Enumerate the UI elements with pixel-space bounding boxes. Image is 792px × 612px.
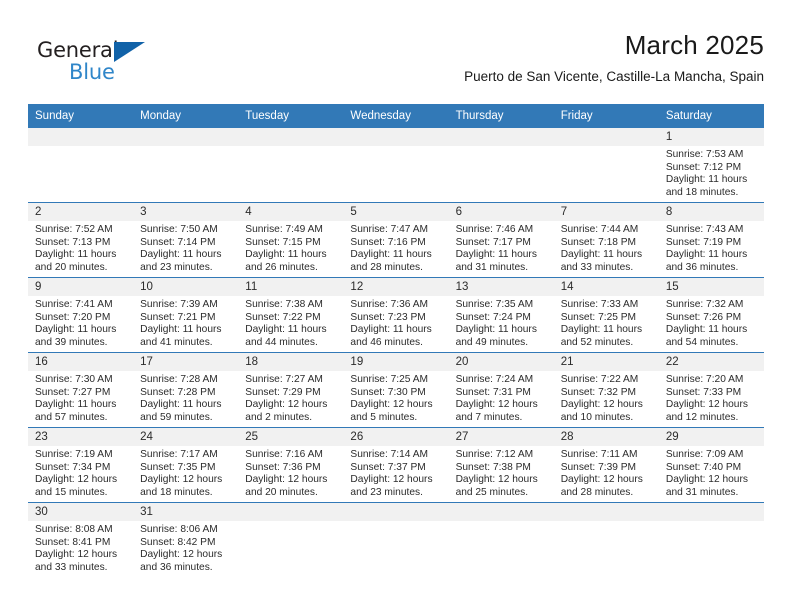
sunrise-text: Sunrise: 7:44 AM — [561, 224, 655, 237]
daylight-text-line1: Daylight: 11 hours — [561, 324, 655, 337]
daylight-text-line1: Daylight: 11 hours — [245, 324, 339, 337]
day-details: Sunrise: 7:09 AMSunset: 7:40 PMDaylight:… — [659, 446, 764, 499]
calendar-day-cell[interactable]: 14Sunrise: 7:33 AMSunset: 7:25 PMDayligh… — [554, 278, 659, 353]
sunrise-text: Sunrise: 7:17 AM — [140, 449, 234, 462]
daylight-text-line1: Daylight: 11 hours — [35, 324, 129, 337]
day-details: Sunrise: 7:20 AMSunset: 7:33 PMDaylight:… — [659, 371, 764, 424]
sunset-text: Sunset: 7:29 PM — [245, 387, 339, 400]
day-number: 20 — [449, 353, 554, 371]
sunset-text: Sunset: 7:36 PM — [245, 462, 339, 475]
daylight-text-line1: Daylight: 11 hours — [350, 249, 444, 262]
calendar-day-cell[interactable]: 22Sunrise: 7:20 AMSunset: 7:33 PMDayligh… — [659, 353, 764, 428]
day-details: Sunrise: 7:30 AMSunset: 7:27 PMDaylight:… — [28, 371, 133, 424]
day-details: Sunrise: 7:33 AMSunset: 7:25 PMDaylight:… — [554, 296, 659, 349]
calendar-day-cell[interactable]: 17Sunrise: 7:28 AMSunset: 7:28 PMDayligh… — [133, 353, 238, 428]
daylight-text-line2: and 23 minutes. — [140, 262, 234, 275]
day-number: 24 — [133, 428, 238, 446]
sunrise-text: Sunrise: 7:27 AM — [245, 374, 339, 387]
sunset-text: Sunset: 7:23 PM — [350, 312, 444, 325]
weekday-header-sunday: Sunday — [28, 104, 133, 128]
calendar-day-cell[interactable]: 7Sunrise: 7:44 AMSunset: 7:18 PMDaylight… — [554, 203, 659, 278]
day-number: 16 — [28, 353, 133, 371]
title-block: March 2025 Puerto de San Vicente, Castil… — [204, 28, 764, 88]
day-details: Sunrise: 7:16 AMSunset: 7:36 PMDaylight:… — [238, 446, 343, 499]
calendar-week-row: 16Sunrise: 7:30 AMSunset: 7:27 PMDayligh… — [28, 353, 764, 428]
sunset-text: Sunset: 7:20 PM — [35, 312, 129, 325]
calendar-day-cell[interactable]: 4Sunrise: 7:49 AMSunset: 7:15 PMDaylight… — [238, 203, 343, 278]
blue-flag-triangle-icon — [114, 42, 145, 62]
daylight-text-line2: and 25 minutes. — [456, 487, 550, 500]
calendar-day-cell[interactable]: 11Sunrise: 7:38 AMSunset: 7:22 PMDayligh… — [238, 278, 343, 353]
sunrise-text: Sunrise: 7:22 AM — [561, 374, 655, 387]
daylight-text-line1: Daylight: 12 hours — [456, 474, 550, 487]
calendar-day-cell[interactable]: 26Sunrise: 7:14 AMSunset: 7:37 PMDayligh… — [343, 428, 448, 503]
daylight-text-line2: and 52 minutes. — [561, 337, 655, 350]
daylight-text-line2: and 33 minutes. — [35, 562, 129, 575]
sunrise-text: Sunrise: 8:08 AM — [35, 524, 129, 537]
day-details: Sunrise: 7:25 AMSunset: 7:30 PMDaylight:… — [343, 371, 448, 424]
calendar-page: General Blue March 2025 Puerto de San Vi… — [0, 0, 792, 612]
sunrise-text: Sunrise: 7:32 AM — [666, 299, 760, 312]
day-number — [343, 503, 448, 521]
sunrise-text: Sunrise: 7:41 AM — [35, 299, 129, 312]
day-details: Sunrise: 7:38 AMSunset: 7:22 PMDaylight:… — [238, 296, 343, 349]
daylight-text-line1: Daylight: 12 hours — [245, 399, 339, 412]
daylight-text-line2: and 23 minutes. — [350, 487, 444, 500]
daylight-text-line2: and 26 minutes. — [245, 262, 339, 275]
calendar-day-cell[interactable]: 19Sunrise: 7:25 AMSunset: 7:30 PMDayligh… — [343, 353, 448, 428]
daylight-text-line2: and 5 minutes. — [350, 412, 444, 425]
daylight-text-line2: and 31 minutes. — [456, 262, 550, 275]
day-number: 29 — [659, 428, 764, 446]
page-title: March 2025 — [204, 28, 764, 62]
sunset-text: Sunset: 8:41 PM — [35, 537, 129, 550]
day-number: 25 — [238, 428, 343, 446]
weekday-header-tuesday: Tuesday — [238, 104, 343, 128]
daylight-text-line2: and 41 minutes. — [140, 337, 234, 350]
day-details: Sunrise: 7:19 AMSunset: 7:34 PMDaylight:… — [28, 446, 133, 499]
calendar-cell-empty — [343, 503, 448, 578]
calendar-day-cell[interactable]: 9Sunrise: 7:41 AMSunset: 7:20 PMDaylight… — [28, 278, 133, 353]
sunrise-text: Sunrise: 7:16 AM — [245, 449, 339, 462]
calendar-header-row: Sunday Monday Tuesday Wednesday Thursday… — [28, 104, 764, 128]
logo-text-general: General — [37, 38, 118, 62]
day-number: 21 — [554, 353, 659, 371]
calendar-day-cell[interactable]: 23Sunrise: 7:19 AMSunset: 7:34 PMDayligh… — [28, 428, 133, 503]
calendar-day-cell[interactable]: 10Sunrise: 7:39 AMSunset: 7:21 PMDayligh… — [133, 278, 238, 353]
sunrise-text: Sunrise: 7:19 AM — [35, 449, 129, 462]
daylight-text-line1: Daylight: 12 hours — [245, 474, 339, 487]
day-number: 22 — [659, 353, 764, 371]
day-details: Sunrise: 7:36 AMSunset: 7:23 PMDaylight:… — [343, 296, 448, 349]
calendar-week-row: 1Sunrise: 7:53 AMSunset: 7:12 PMDaylight… — [28, 128, 764, 203]
calendar-cell-empty — [449, 128, 554, 203]
daylight-text-line1: Daylight: 12 hours — [35, 549, 129, 562]
daylight-text-line2: and 18 minutes. — [666, 187, 760, 200]
day-number: 3 — [133, 203, 238, 221]
weekday-header-friday: Friday — [554, 104, 659, 128]
day-number: 11 — [238, 278, 343, 296]
day-number: 26 — [343, 428, 448, 446]
weekday-header-thursday: Thursday — [449, 104, 554, 128]
sunset-text: Sunset: 7:12 PM — [666, 162, 760, 175]
sunrise-text: Sunrise: 7:20 AM — [666, 374, 760, 387]
day-details: Sunrise: 7:49 AMSunset: 7:15 PMDaylight:… — [238, 221, 343, 274]
daylight-text-line2: and 57 minutes. — [35, 412, 129, 425]
day-number: 15 — [659, 278, 764, 296]
calendar-day-cell[interactable]: 6Sunrise: 7:46 AMSunset: 7:17 PMDaylight… — [449, 203, 554, 278]
daylight-text-line1: Daylight: 12 hours — [666, 474, 760, 487]
day-details: Sunrise: 8:06 AMSunset: 8:42 PMDaylight:… — [133, 521, 238, 574]
calendar-grid: Sunday Monday Tuesday Wednesday Thursday… — [28, 104, 764, 578]
day-number: 10 — [133, 278, 238, 296]
sunset-text: Sunset: 7:37 PM — [350, 462, 444, 475]
day-number — [238, 503, 343, 521]
daylight-text-line2: and 12 minutes. — [666, 412, 760, 425]
day-number: 28 — [554, 428, 659, 446]
sunrise-text: Sunrise: 7:52 AM — [35, 224, 129, 237]
day-number: 17 — [133, 353, 238, 371]
day-number: 13 — [449, 278, 554, 296]
sunrise-text: Sunrise: 7:47 AM — [350, 224, 444, 237]
day-number: 4 — [238, 203, 343, 221]
daylight-text-line1: Daylight: 11 hours — [140, 399, 234, 412]
daylight-text-line2: and 44 minutes. — [245, 337, 339, 350]
sunrise-text: Sunrise: 7:49 AM — [245, 224, 339, 237]
daylight-text-line1: Daylight: 11 hours — [140, 249, 234, 262]
sunset-text: Sunset: 7:21 PM — [140, 312, 234, 325]
day-number: 31 — [133, 503, 238, 521]
day-number: 9 — [28, 278, 133, 296]
daylight-text-line1: Daylight: 12 hours — [140, 474, 234, 487]
day-details: Sunrise: 7:22 AMSunset: 7:32 PMDaylight:… — [554, 371, 659, 424]
sunrise-text: Sunrise: 7:12 AM — [456, 449, 550, 462]
day-details: Sunrise: 7:11 AMSunset: 7:39 PMDaylight:… — [554, 446, 659, 499]
calendar-day-cell[interactable]: 2Sunrise: 7:52 AMSunset: 7:13 PMDaylight… — [28, 203, 133, 278]
day-details: Sunrise: 7:50 AMSunset: 7:14 PMDaylight:… — [133, 221, 238, 274]
daylight-text-line1: Daylight: 12 hours — [350, 474, 444, 487]
sunset-text: Sunset: 7:19 PM — [666, 237, 760, 250]
sunrise-text: Sunrise: 7:33 AM — [561, 299, 655, 312]
daylight-text-line2: and 18 minutes. — [140, 487, 234, 500]
daylight-text-line1: Daylight: 11 hours — [140, 324, 234, 337]
day-details: Sunrise: 8:08 AMSunset: 8:41 PMDaylight:… — [28, 521, 133, 574]
page-subtitle: Puerto de San Vicente, Castille-La Manch… — [204, 66, 764, 88]
daylight-text-line1: Daylight: 11 hours — [456, 324, 550, 337]
day-details: Sunrise: 7:41 AMSunset: 7:20 PMDaylight:… — [28, 296, 133, 349]
daylight-text-line1: Daylight: 11 hours — [666, 174, 760, 187]
daylight-text-line2: and 28 minutes. — [350, 262, 444, 275]
sunset-text: Sunset: 7:26 PM — [666, 312, 760, 325]
sunrise-text: Sunrise: 7:24 AM — [456, 374, 550, 387]
day-details: Sunrise: 7:27 AMSunset: 7:29 PMDaylight:… — [238, 371, 343, 424]
calendar-week-row: 23Sunrise: 7:19 AMSunset: 7:34 PMDayligh… — [28, 428, 764, 503]
calendar-day-cell[interactable]: 5Sunrise: 7:47 AMSunset: 7:16 PMDaylight… — [343, 203, 448, 278]
sunset-text: Sunset: 7:17 PM — [456, 237, 550, 250]
day-number: 27 — [449, 428, 554, 446]
calendar-cell-empty — [238, 503, 343, 578]
sunset-text: Sunset: 7:27 PM — [35, 387, 129, 400]
general-blue-logo[interactable]: General Blue — [37, 38, 157, 90]
calendar-cell-empty — [449, 503, 554, 578]
day-details: Sunrise: 7:44 AMSunset: 7:18 PMDaylight:… — [554, 221, 659, 274]
sunrise-text: Sunrise: 7:39 AM — [140, 299, 234, 312]
day-number — [449, 128, 554, 146]
daylight-text-line2: and 20 minutes. — [35, 262, 129, 275]
calendar-cell-empty — [28, 128, 133, 203]
daylight-text-line1: Daylight: 11 hours — [35, 249, 129, 262]
sunset-text: Sunset: 7:40 PM — [666, 462, 760, 475]
sunrise-text: Sunrise: 7:11 AM — [561, 449, 655, 462]
day-number — [238, 128, 343, 146]
daylight-text-line1: Daylight: 11 hours — [561, 249, 655, 262]
daylight-text-line2: and 33 minutes. — [561, 262, 655, 275]
sunrise-text: Sunrise: 7:36 AM — [350, 299, 444, 312]
day-details: Sunrise: 7:24 AMSunset: 7:31 PMDaylight:… — [449, 371, 554, 424]
sunrise-text: Sunrise: 7:25 AM — [350, 374, 444, 387]
daylight-text-line2: and 28 minutes. — [561, 487, 655, 500]
daylight-text-line1: Daylight: 11 hours — [666, 249, 760, 262]
calendar-day-cell[interactable]: 18Sunrise: 7:27 AMSunset: 7:29 PMDayligh… — [238, 353, 343, 428]
calendar-day-cell[interactable]: 24Sunrise: 7:17 AMSunset: 7:35 PMDayligh… — [133, 428, 238, 503]
sunset-text: Sunset: 7:38 PM — [456, 462, 550, 475]
logo-text-blue: Blue — [69, 60, 115, 84]
daylight-text-line2: and 15 minutes. — [35, 487, 129, 500]
daylight-text-line1: Daylight: 12 hours — [561, 399, 655, 412]
daylight-text-line2: and 54 minutes. — [666, 337, 760, 350]
daylight-text-line1: Daylight: 12 hours — [35, 474, 129, 487]
day-number: 6 — [449, 203, 554, 221]
day-number: 7 — [554, 203, 659, 221]
weekday-header-monday: Monday — [133, 104, 238, 128]
daylight-text-line2: and 59 minutes. — [140, 412, 234, 425]
calendar-day-cell[interactable]: 20Sunrise: 7:24 AMSunset: 7:31 PMDayligh… — [449, 353, 554, 428]
day-details: Sunrise: 7:39 AMSunset: 7:21 PMDaylight:… — [133, 296, 238, 349]
daylight-text-line1: Daylight: 11 hours — [35, 399, 129, 412]
daylight-text-line2: and 36 minutes. — [140, 562, 234, 575]
calendar-day-cell[interactable]: 13Sunrise: 7:35 AMSunset: 7:24 PMDayligh… — [449, 278, 554, 353]
daylight-text-line2: and 36 minutes. — [666, 262, 760, 275]
weekday-header-wednesday: Wednesday — [343, 104, 448, 128]
calendar-day-cell[interactable]: 8Sunrise: 7:43 AMSunset: 7:19 PMDaylight… — [659, 203, 764, 278]
day-number: 14 — [554, 278, 659, 296]
day-details: Sunrise: 7:53 AMSunset: 7:12 PMDaylight:… — [659, 146, 764, 199]
daylight-text-line2: and 20 minutes. — [245, 487, 339, 500]
sunrise-text: Sunrise: 7:28 AM — [140, 374, 234, 387]
calendar-cell-empty — [554, 503, 659, 578]
sunset-text: Sunset: 7:18 PM — [561, 237, 655, 250]
daylight-text-line2: and 49 minutes. — [456, 337, 550, 350]
day-details: Sunrise: 7:46 AMSunset: 7:17 PMDaylight:… — [449, 221, 554, 274]
calendar-day-cell[interactable]: 30Sunrise: 8:08 AMSunset: 8:41 PMDayligh… — [28, 503, 133, 578]
sunset-text: Sunset: 7:33 PM — [666, 387, 760, 400]
sunset-text: Sunset: 7:22 PM — [245, 312, 339, 325]
calendar-week-row: 9Sunrise: 7:41 AMSunset: 7:20 PMDaylight… — [28, 278, 764, 353]
sunset-text: Sunset: 8:42 PM — [140, 537, 234, 550]
daylight-text-line2: and 2 minutes. — [245, 412, 339, 425]
calendar-cell-empty — [554, 128, 659, 203]
day-details: Sunrise: 7:32 AMSunset: 7:26 PMDaylight:… — [659, 296, 764, 349]
sunrise-text: Sunrise: 7:43 AM — [666, 224, 760, 237]
sunset-text: Sunset: 7:14 PM — [140, 237, 234, 250]
day-number: 5 — [343, 203, 448, 221]
sunrise-text: Sunrise: 7:46 AM — [456, 224, 550, 237]
day-details: Sunrise: 7:47 AMSunset: 7:16 PMDaylight:… — [343, 221, 448, 274]
daylight-text-line1: Daylight: 12 hours — [666, 399, 760, 412]
daylight-text-line1: Daylight: 11 hours — [456, 249, 550, 262]
daylight-text-line2: and 39 minutes. — [35, 337, 129, 350]
calendar-day-cell[interactable]: 21Sunrise: 7:22 AMSunset: 7:32 PMDayligh… — [554, 353, 659, 428]
calendar-day-cell[interactable]: 31Sunrise: 8:06 AMSunset: 8:42 PMDayligh… — [133, 503, 238, 578]
calendar-day-cell[interactable]: 29Sunrise: 7:09 AMSunset: 7:40 PMDayligh… — [659, 428, 764, 503]
daylight-text-line2: and 31 minutes. — [666, 487, 760, 500]
weekday-header-saturday: Saturday — [659, 104, 764, 128]
calendar-day-cell[interactable]: 1Sunrise: 7:53 AMSunset: 7:12 PMDaylight… — [659, 128, 764, 203]
calendar-week-row: 30Sunrise: 8:08 AMSunset: 8:41 PMDayligh… — [28, 503, 764, 578]
daylight-text-line1: Daylight: 12 hours — [456, 399, 550, 412]
sunrise-text: Sunrise: 8:06 AM — [140, 524, 234, 537]
daylight-text-line1: Daylight: 11 hours — [245, 249, 339, 262]
sunset-text: Sunset: 7:32 PM — [561, 387, 655, 400]
calendar-cell-empty — [238, 128, 343, 203]
calendar-day-cell[interactable]: 16Sunrise: 7:30 AMSunset: 7:27 PMDayligh… — [28, 353, 133, 428]
sunset-text: Sunset: 7:16 PM — [350, 237, 444, 250]
sunrise-text: Sunrise: 7:53 AM — [666, 149, 760, 162]
sunrise-text: Sunrise: 7:50 AM — [140, 224, 234, 237]
day-number: 8 — [659, 203, 764, 221]
sunset-text: Sunset: 7:39 PM — [561, 462, 655, 475]
day-number: 30 — [28, 503, 133, 521]
calendar-cell-empty — [659, 503, 764, 578]
sunset-text: Sunset: 7:15 PM — [245, 237, 339, 250]
day-details: Sunrise: 7:35 AMSunset: 7:24 PMDaylight:… — [449, 296, 554, 349]
day-number — [133, 128, 238, 146]
sunset-text: Sunset: 7:24 PM — [456, 312, 550, 325]
day-number: 19 — [343, 353, 448, 371]
sunset-text: Sunset: 7:34 PM — [35, 462, 129, 475]
daylight-text-line1: Daylight: 12 hours — [561, 474, 655, 487]
calendar-day-cell[interactable]: 28Sunrise: 7:11 AMSunset: 7:39 PMDayligh… — [554, 428, 659, 503]
daylight-text-line1: Daylight: 12 hours — [140, 549, 234, 562]
sunrise-text: Sunrise: 7:14 AM — [350, 449, 444, 462]
calendar-day-cell[interactable]: 25Sunrise: 7:16 AMSunset: 7:36 PMDayligh… — [238, 428, 343, 503]
day-number — [28, 128, 133, 146]
sunset-text: Sunset: 7:13 PM — [35, 237, 129, 250]
calendar-cell-empty — [133, 128, 238, 203]
day-number: 12 — [343, 278, 448, 296]
day-details: Sunrise: 7:52 AMSunset: 7:13 PMDaylight:… — [28, 221, 133, 274]
day-number: 18 — [238, 353, 343, 371]
sunrise-text: Sunrise: 7:30 AM — [35, 374, 129, 387]
calendar-cell-empty — [343, 128, 448, 203]
day-number — [554, 128, 659, 146]
daylight-text-line2: and 10 minutes. — [561, 412, 655, 425]
day-number — [554, 503, 659, 521]
day-details: Sunrise: 7:12 AMSunset: 7:38 PMDaylight:… — [449, 446, 554, 499]
day-number: 2 — [28, 203, 133, 221]
day-number: 23 — [28, 428, 133, 446]
calendar-day-cell[interactable]: 3Sunrise: 7:50 AMSunset: 7:14 PMDaylight… — [133, 203, 238, 278]
daylight-text-line1: Daylight: 11 hours — [350, 324, 444, 337]
day-number — [659, 503, 764, 521]
sunrise-text: Sunrise: 7:38 AM — [245, 299, 339, 312]
daylight-text-line1: Daylight: 12 hours — [350, 399, 444, 412]
daylight-text-line2: and 46 minutes. — [350, 337, 444, 350]
sunset-text: Sunset: 7:35 PM — [140, 462, 234, 475]
calendar-day-cell[interactable]: 12Sunrise: 7:36 AMSunset: 7:23 PMDayligh… — [343, 278, 448, 353]
day-number — [449, 503, 554, 521]
day-details: Sunrise: 7:17 AMSunset: 7:35 PMDaylight:… — [133, 446, 238, 499]
sunrise-text: Sunrise: 7:09 AM — [666, 449, 760, 462]
day-number — [343, 128, 448, 146]
calendar-day-cell[interactable]: 27Sunrise: 7:12 AMSunset: 7:38 PMDayligh… — [449, 428, 554, 503]
sunset-text: Sunset: 7:30 PM — [350, 387, 444, 400]
sunset-text: Sunset: 7:25 PM — [561, 312, 655, 325]
sunset-text: Sunset: 7:28 PM — [140, 387, 234, 400]
calendar-week-row: 2Sunrise: 7:52 AMSunset: 7:13 PMDaylight… — [28, 203, 764, 278]
calendar-body: 1Sunrise: 7:53 AMSunset: 7:12 PMDaylight… — [28, 128, 764, 578]
masthead: General Blue March 2025 Puerto de San Vi… — [28, 28, 764, 100]
day-details: Sunrise: 7:28 AMSunset: 7:28 PMDaylight:… — [133, 371, 238, 424]
day-details: Sunrise: 7:43 AMSunset: 7:19 PMDaylight:… — [659, 221, 764, 274]
daylight-text-line2: and 7 minutes. — [456, 412, 550, 425]
day-number: 1 — [659, 128, 764, 146]
daylight-text-line1: Daylight: 11 hours — [666, 324, 760, 337]
sunrise-text: Sunrise: 7:35 AM — [456, 299, 550, 312]
calendar-day-cell[interactable]: 15Sunrise: 7:32 AMSunset: 7:26 PMDayligh… — [659, 278, 764, 353]
sunset-text: Sunset: 7:31 PM — [456, 387, 550, 400]
day-details: Sunrise: 7:14 AMSunset: 7:37 PMDaylight:… — [343, 446, 448, 499]
